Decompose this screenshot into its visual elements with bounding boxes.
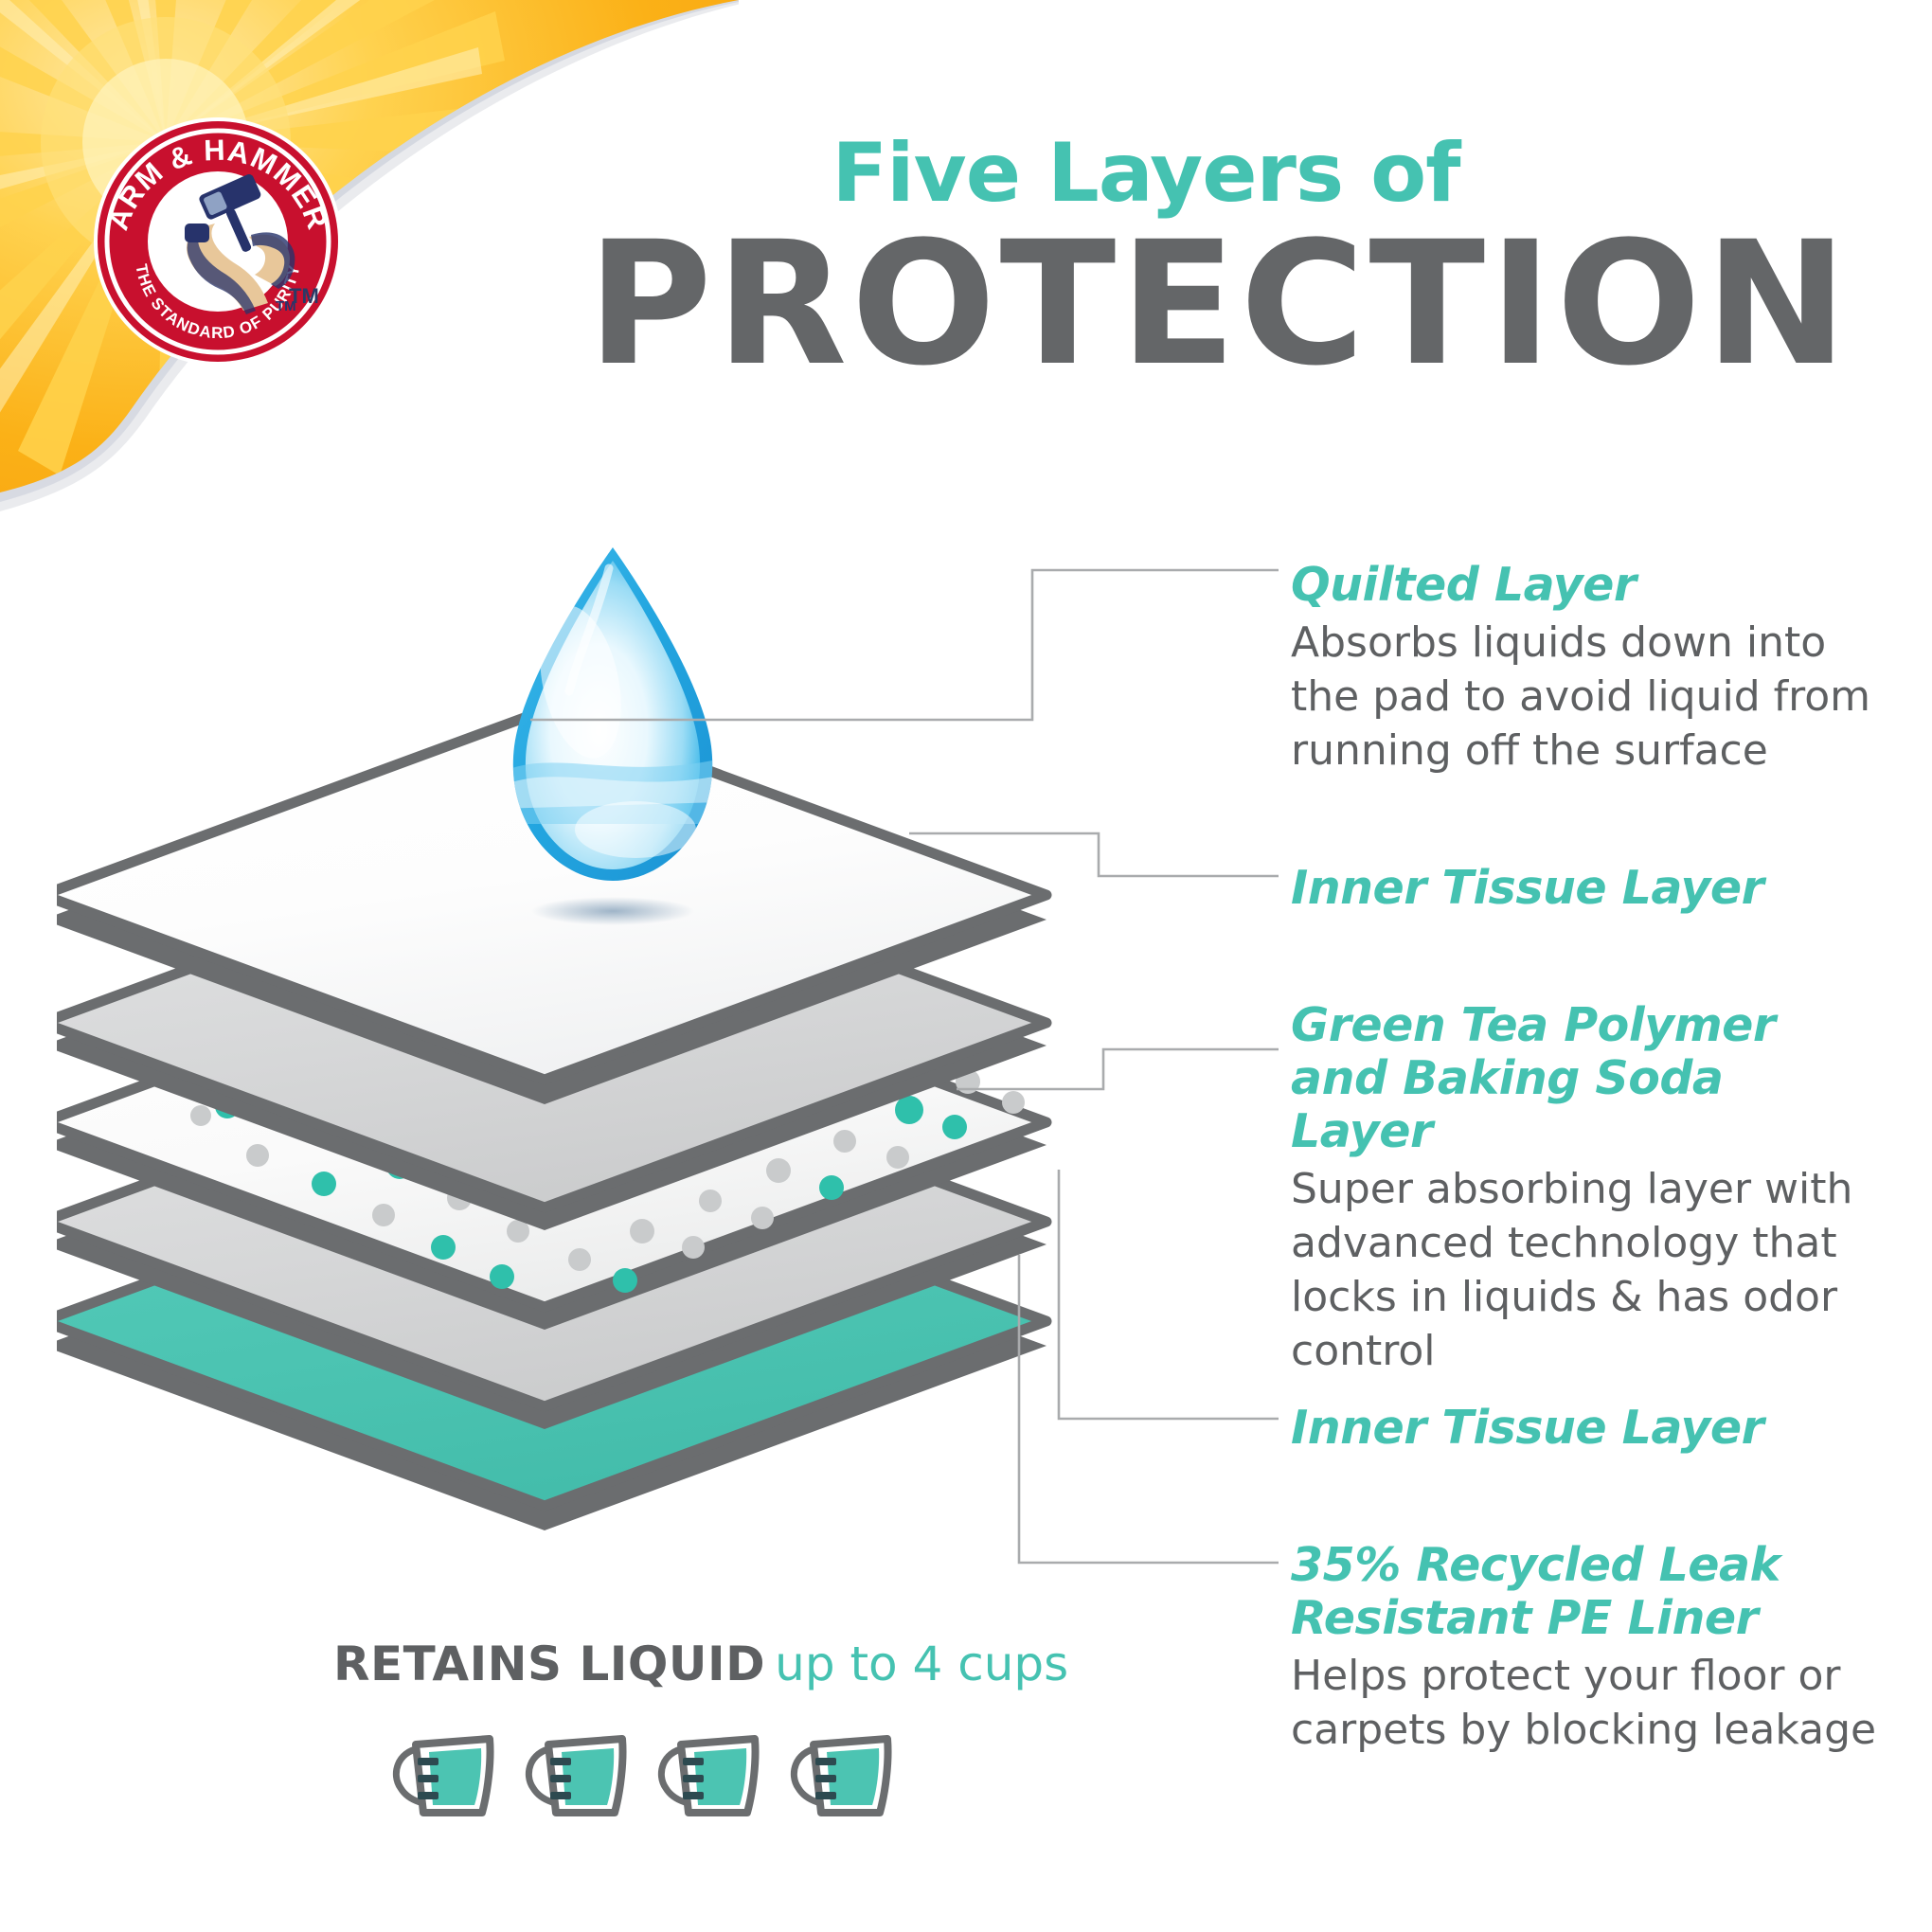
callout-title-line1: Green Tea Polymer xyxy=(1291,999,1878,1052)
callout-pe-liner: 35% Recycled Leak Resistant PE Liner Hel… xyxy=(1291,1539,1878,1757)
callout-body: Absorbs liquids down into the pad to avo… xyxy=(1291,616,1878,778)
retains-liquid-accent: up to 4 cups xyxy=(775,1637,1068,1691)
callout-body: Super absorbing layer with advanced tech… xyxy=(1291,1162,1878,1379)
measuring-cup-icon xyxy=(789,1724,901,1826)
callout-title-line2: Resistant PE Liner xyxy=(1291,1592,1878,1645)
callout-body: Helps protect your floor or carpets by b… xyxy=(1291,1649,1878,1757)
measuring-cups-row xyxy=(333,1724,958,1826)
retains-liquid-label: RETAINS LIQUIDup to 4 cups xyxy=(333,1637,958,1691)
arm-and-hammer-logo: ARM & HAMMER THE STANDARD OF PURITY TM xyxy=(90,114,346,369)
headline-block: Five Layers of PROTECTION xyxy=(587,133,1705,390)
callout-inner-tissue-top: Inner Tissue Layer xyxy=(1291,862,1878,915)
callout-green-tea-polymer: Green Tea Polymer and Baking Soda Layer … xyxy=(1291,999,1878,1378)
logo-tm-outer: TM xyxy=(289,284,319,309)
callout-title-line1: 35% Recycled Leak xyxy=(1291,1539,1878,1592)
callout-inner-tissue-bottom: Inner Tissue Layer xyxy=(1291,1402,1878,1455)
droplet-shadow xyxy=(531,897,694,925)
page-title: PROTECTION xyxy=(587,220,1705,390)
measuring-cup-icon xyxy=(524,1724,635,1826)
callout-title: Quilted Layer xyxy=(1291,559,1878,612)
callout-quilted-layer: Quilted Layer Absorbs liquids down into … xyxy=(1291,559,1878,778)
water-droplet xyxy=(469,540,781,938)
callout-title-line2: and Baking Soda Layer xyxy=(1291,1052,1878,1158)
measuring-cup-icon xyxy=(391,1724,503,1826)
measuring-cup-icon xyxy=(656,1724,768,1826)
infographic-root: ARM & HAMMER THE STANDARD OF PURITY TM xyxy=(0,0,1932,1932)
retains-liquid-block: RETAINS LIQUIDup to 4 cups xyxy=(333,1637,958,1826)
callout-title: Inner Tissue Layer xyxy=(1291,1402,1878,1455)
retains-liquid-bold: RETAINS LIQUID xyxy=(333,1637,765,1691)
headline-subtitle: Five Layers of xyxy=(587,133,1705,214)
callout-title: Inner Tissue Layer xyxy=(1291,862,1878,915)
